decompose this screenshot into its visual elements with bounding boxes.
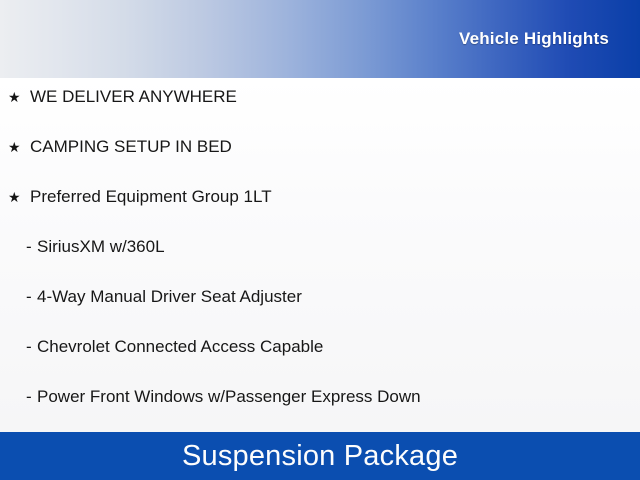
list-item: - Chevrolet Connected Access Capable — [0, 338, 640, 388]
list-item: ★ CAMPING SETUP IN BED — [0, 138, 640, 188]
dash-icon: - — [26, 288, 37, 305]
star-icon: ★ — [8, 140, 30, 154]
dash-icon: - — [26, 238, 37, 255]
star-icon: ★ — [8, 90, 30, 104]
footer-banner: Suspension Package — [0, 432, 640, 480]
list-item: - Power Front Windows w/Passenger Expres… — [0, 388, 640, 432]
footer-title: Suspension Package — [182, 442, 458, 471]
list-item-label: 4-Way Manual Driver Seat Adjuster — [37, 288, 302, 305]
list-item-label: Preferred Equipment Group 1LT — [30, 188, 272, 205]
list-item-label: Chevrolet Connected Access Capable — [37, 338, 323, 355]
list-item: ★ WE DELIVER ANYWHERE — [0, 88, 640, 138]
list-item-label: WE DELIVER ANYWHERE — [30, 88, 237, 105]
dash-icon: - — [26, 338, 37, 355]
list-item-label: SiriusXM w/360L — [37, 238, 165, 255]
vehicle-highlights-slide: Vehicle Highlights ★ WE DELIVER ANYWHERE… — [0, 0, 640, 480]
star-icon: ★ — [8, 190, 30, 204]
list-item: - SiriusXM w/360L — [0, 238, 640, 288]
list-item: - 4-Way Manual Driver Seat Adjuster — [0, 288, 640, 338]
dash-icon: - — [26, 388, 37, 405]
list-item-label: CAMPING SETUP IN BED — [30, 138, 232, 155]
list-item: ★ Preferred Equipment Group 1LT — [0, 188, 640, 238]
header-banner: Vehicle Highlights — [0, 0, 640, 78]
highlights-content: ★ WE DELIVER ANYWHERE ★ CAMPING SETUP IN… — [0, 78, 640, 432]
page-title: Vehicle Highlights — [459, 29, 609, 49]
list-item-label: Power Front Windows w/Passenger Express … — [37, 388, 421, 405]
highlights-list: ★ WE DELIVER ANYWHERE ★ CAMPING SETUP IN… — [0, 88, 640, 432]
